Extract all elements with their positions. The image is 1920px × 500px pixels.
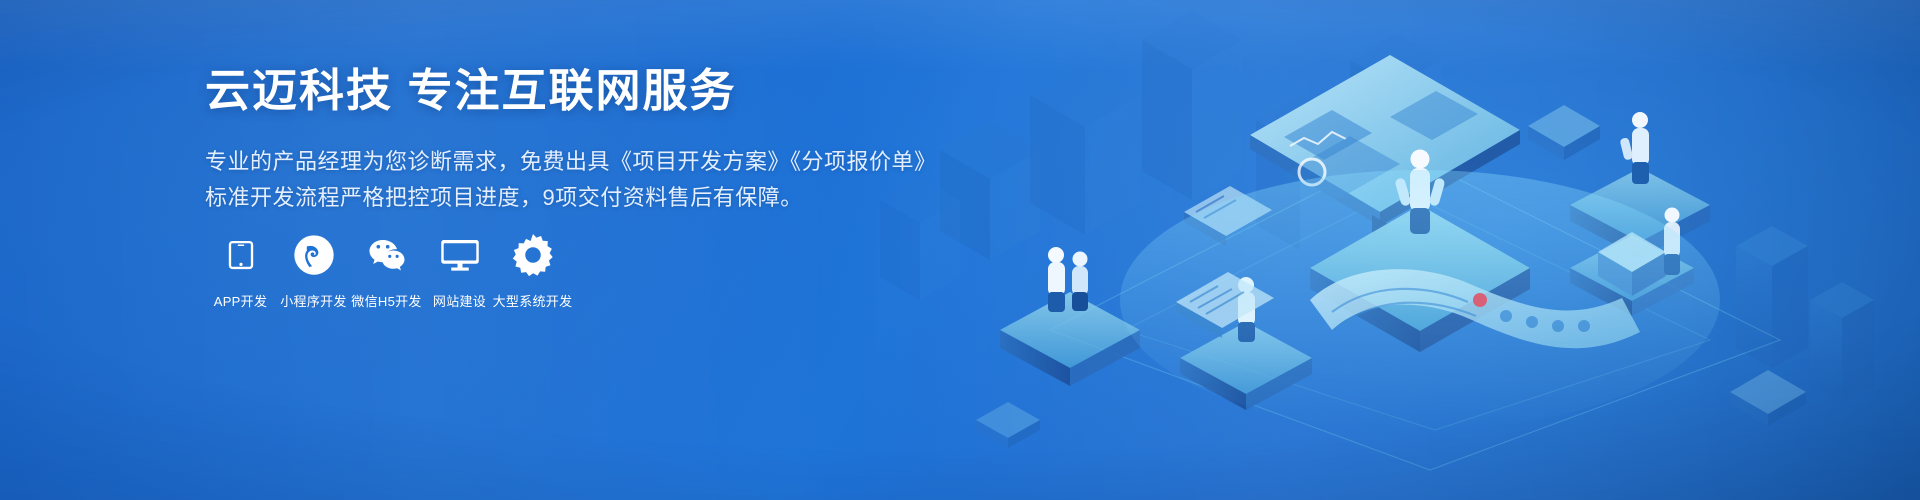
hero-subtitle-block: 专业的产品经理为您诊断需求，免费出具《项目开发方案》《分项报价单》 标准开发流程… — [205, 144, 905, 215]
gear-icon — [512, 232, 554, 278]
service-item-website[interactable]: 网站建设 — [423, 232, 496, 310]
service-item-mini-program[interactable]: 小程序开发 — [277, 232, 350, 310]
hero-subtitle-line-1: 专业的产品经理为您诊断需求，免费出具《项目开发方案》《分项报价单》 — [205, 144, 905, 180]
hero-subtitle-line-2: 标准开发流程严格把控项目进度，9项交付资料售后有保障。 — [205, 180, 905, 216]
mobile-phone-icon — [226, 232, 256, 278]
hero-banner: 云迈科技 专注互联网服务 专业的产品经理为您诊断需求，免费出具《项目开发方案》《… — [0, 0, 1920, 500]
service-label: 网站建设 — [433, 291, 486, 310]
hero-copy-block: 云迈科技 专注互联网服务 专业的产品经理为您诊断需求，免费出具《项目开发方案》《… — [205, 64, 905, 215]
service-label: 小程序开发 — [280, 291, 347, 310]
monitor-icon — [439, 232, 481, 278]
service-item-large-system[interactable]: 大型系统开发 — [496, 232, 569, 310]
hero-illustration — [880, 0, 1920, 500]
service-label: 微信H5开发 — [351, 291, 421, 310]
service-label: APP开发 — [214, 291, 268, 310]
mini-program-icon — [293, 232, 335, 278]
service-label: 大型系统开发 — [493, 291, 573, 310]
wechat-icon — [365, 232, 409, 278]
service-list: APP开发 小程序开发 微信H5开发 — [204, 232, 569, 310]
page-title: 云迈科技 专注互联网服务 — [205, 64, 905, 119]
service-item-app[interactable]: APP开发 — [204, 232, 277, 310]
service-item-wechat-h5[interactable]: 微信H5开发 — [350, 232, 423, 310]
